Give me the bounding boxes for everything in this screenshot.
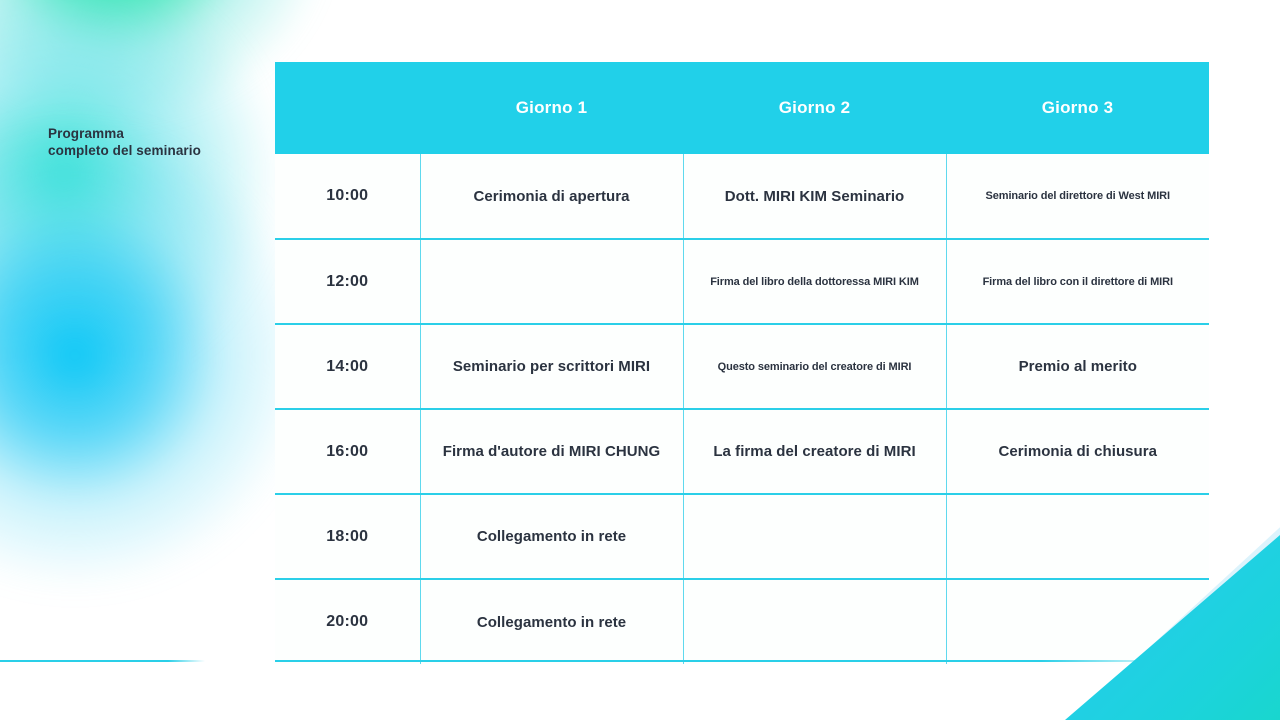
slide-title-line-1: Programma xyxy=(48,126,263,143)
cell-day-1: Seminario per scrittori MIRI xyxy=(420,324,683,409)
cell-day-3: Seminario del direttore di West MIRI xyxy=(946,154,1209,239)
table-row: 20:00 Collegamento in rete xyxy=(275,579,1209,664)
cell-day-3: Cerimonia di chiusura xyxy=(946,409,1209,494)
cell-day-1: Collegamento in rete xyxy=(420,579,683,664)
gradient-blob-teal xyxy=(0,0,280,390)
header-cell-day-2: Giorno 2 xyxy=(683,62,946,154)
table-row: 18:00 Collegamento in rete xyxy=(275,494,1209,579)
cell-day-2: Questo seminario del creatore di MIRI xyxy=(683,324,946,409)
table-row: 12:00 Firma del libro della dottoressa M… xyxy=(275,239,1209,324)
header-cell-day-3: Giorno 3 xyxy=(946,62,1209,154)
header-cell-day-1: Giorno 1 xyxy=(420,62,683,154)
schedule-table-wrapper: Giorno 1 Giorno 2 Giorno 3 10:00 Cerimon… xyxy=(275,62,1209,664)
accent-rule-left xyxy=(0,660,205,662)
cell-day-2: La firma del creatore di MIRI xyxy=(683,409,946,494)
cell-day-2: Dott. MIRI KIM Seminario xyxy=(683,154,946,239)
cell-time: 16:00 xyxy=(275,409,420,494)
gradient-blob-cyan xyxy=(0,120,310,680)
cell-time: 20:00 xyxy=(275,579,420,664)
schedule-table-header: Giorno 1 Giorno 2 Giorno 3 xyxy=(275,62,1209,154)
cell-day-3: Firma del libro con il direttore di MIRI xyxy=(946,239,1209,324)
slide-canvas: Programma completo del seminario Giorno … xyxy=(0,0,1280,720)
cell-time: 12:00 xyxy=(275,239,420,324)
table-bottom-rule xyxy=(275,660,1209,662)
table-row: 16:00 Firma d'autore di MIRI CHUNG La fi… xyxy=(275,409,1209,494)
cell-day-3 xyxy=(946,579,1209,664)
table-row: 10:00 Cerimonia di apertura Dott. MIRI K… xyxy=(275,154,1209,239)
cell-time: 10:00 xyxy=(275,154,420,239)
cell-day-2: Firma del libro della dottoressa MIRI KI… xyxy=(683,239,946,324)
slide-title-line-2: completo del seminario xyxy=(48,143,263,160)
cell-time: 14:00 xyxy=(275,324,420,409)
schedule-table-body: 10:00 Cerimonia di apertura Dott. MIRI K… xyxy=(275,154,1209,664)
header-cell-corner xyxy=(275,62,420,154)
schedule-table: Giorno 1 Giorno 2 Giorno 3 10:00 Cerimon… xyxy=(275,62,1209,664)
cell-time: 18:00 xyxy=(275,494,420,579)
cell-day-2 xyxy=(683,579,946,664)
cell-day-1: Cerimonia di apertura xyxy=(420,154,683,239)
table-row: 14:00 Seminario per scrittori MIRI Quest… xyxy=(275,324,1209,409)
cell-day-1: Firma d'autore di MIRI CHUNG xyxy=(420,409,683,494)
cell-day-1 xyxy=(420,239,683,324)
cell-day-3 xyxy=(946,494,1209,579)
cell-day-3: Premio al merito xyxy=(946,324,1209,409)
slide-title: Programma completo del seminario xyxy=(48,126,263,160)
cell-day-1: Collegamento in rete xyxy=(420,494,683,579)
cell-day-2 xyxy=(683,494,946,579)
header-row: Giorno 1 Giorno 2 Giorno 3 xyxy=(275,62,1209,154)
